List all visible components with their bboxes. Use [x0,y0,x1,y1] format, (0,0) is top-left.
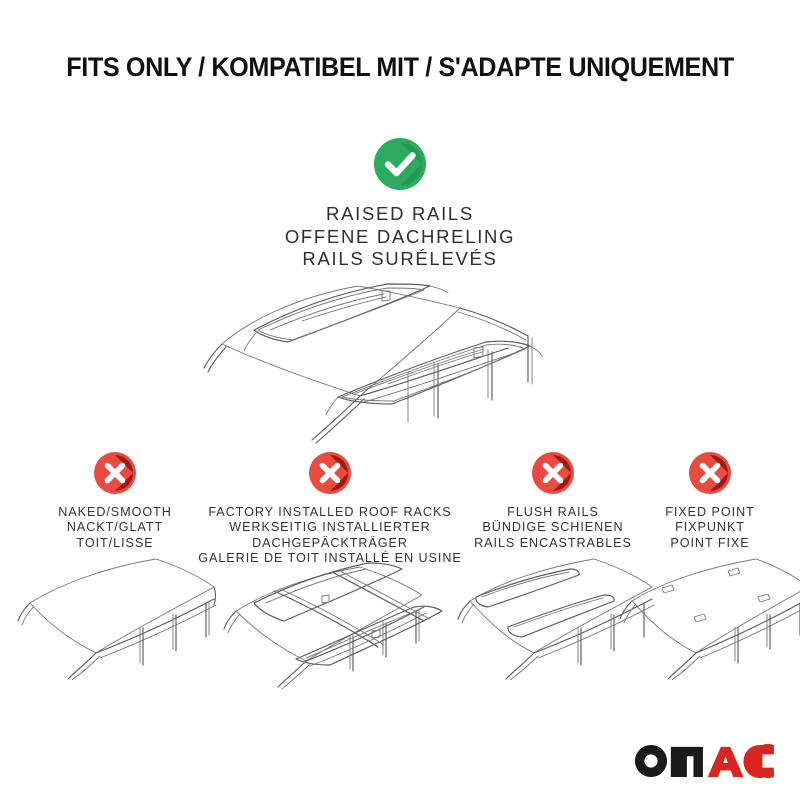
x-circle-icon [689,452,731,494]
caption-line-fr: RAILS ENCASTRABLES [452,536,654,551]
compatible-labels: RAISED RAILS OFFENE DACHRELING RAILS SUR… [0,203,800,271]
car-roof-with-raised-rails-illustration [192,272,622,457]
caption-line-de: FIXPUNKT [634,520,786,535]
car-roof-fixed-point-illustration [610,555,800,680]
product-fitment-infographic: FITS ONLY / KOMPATIBEL MIT / S'ADAPTE UN… [0,0,800,800]
caption-line-en: FLUSH RAILS [452,505,654,520]
compatible-label-fr: RAILS SURÉLEVÉS [0,248,800,271]
compatible-section: RAISED RAILS OFFENE DACHRELING RAILS SUR… [0,138,800,271]
check-circle-icon [374,138,426,190]
caption-line-en: NAKED/SMOOTH [14,505,216,520]
caption-line-en: FACTORY INSTALLED ROOF RACKS [196,505,464,520]
caption-flush-rails: FLUSH RAILS BÜNDIGE SCHIENEN RAILS ENCAS… [452,505,654,551]
incompatible-item-fixed-point: FIXED POINT FIXPUNKT POINT FIXE [634,452,786,551]
incompatible-item-flush-rails: FLUSH RAILS BÜNDIGE SCHIENEN RAILS ENCAS… [452,452,654,551]
x-circle-icon [532,452,574,494]
caption-line-fr: POINT FIXE [634,536,786,551]
caption-line-en: FIXED POINT [634,505,786,520]
caption-naked-smooth: NAKED/SMOOTH NACKT/GLATT TOIT/LISSE [14,505,216,551]
caption-line-de-2: DACHGEPÄCKTRÄGER [196,536,464,551]
compatible-label-en: RAISED RAILS [0,203,800,226]
caption-line-de: BÜNDIGE SCHIENEN [452,520,654,535]
compatible-label-de: OFFENE DACHRELING [0,226,800,249]
page-title: FITS ONLY / KOMPATIBEL MIT / S'ADAPTE UN… [20,52,780,83]
caption-line-de-1: WERKSEITIG INSTALLIERTER [196,520,464,535]
caption-line-fr: TOIT/LISSE [14,536,216,551]
car-roof-naked-smooth-illustration [10,555,220,680]
incompatible-item-naked-smooth: NAKED/SMOOTH NACKT/GLATT TOIT/LISSE [14,452,216,551]
incompatible-item-factory-roof-racks: FACTORY INSTALLED ROOF RACKS WERKSEITIG … [196,452,464,566]
x-circle-icon [94,452,136,494]
omac-logo [634,744,776,778]
caption-fixed-point: FIXED POINT FIXPUNKT POINT FIXE [634,505,786,551]
x-circle-icon [309,452,351,494]
caption-line-de: NACKT/GLATT [14,520,216,535]
incompatible-section: NAKED/SMOOTH NACKT/GLATT TOIT/LISSE [0,452,800,782]
car-roof-factory-roof-rack-illustration [210,555,450,690]
